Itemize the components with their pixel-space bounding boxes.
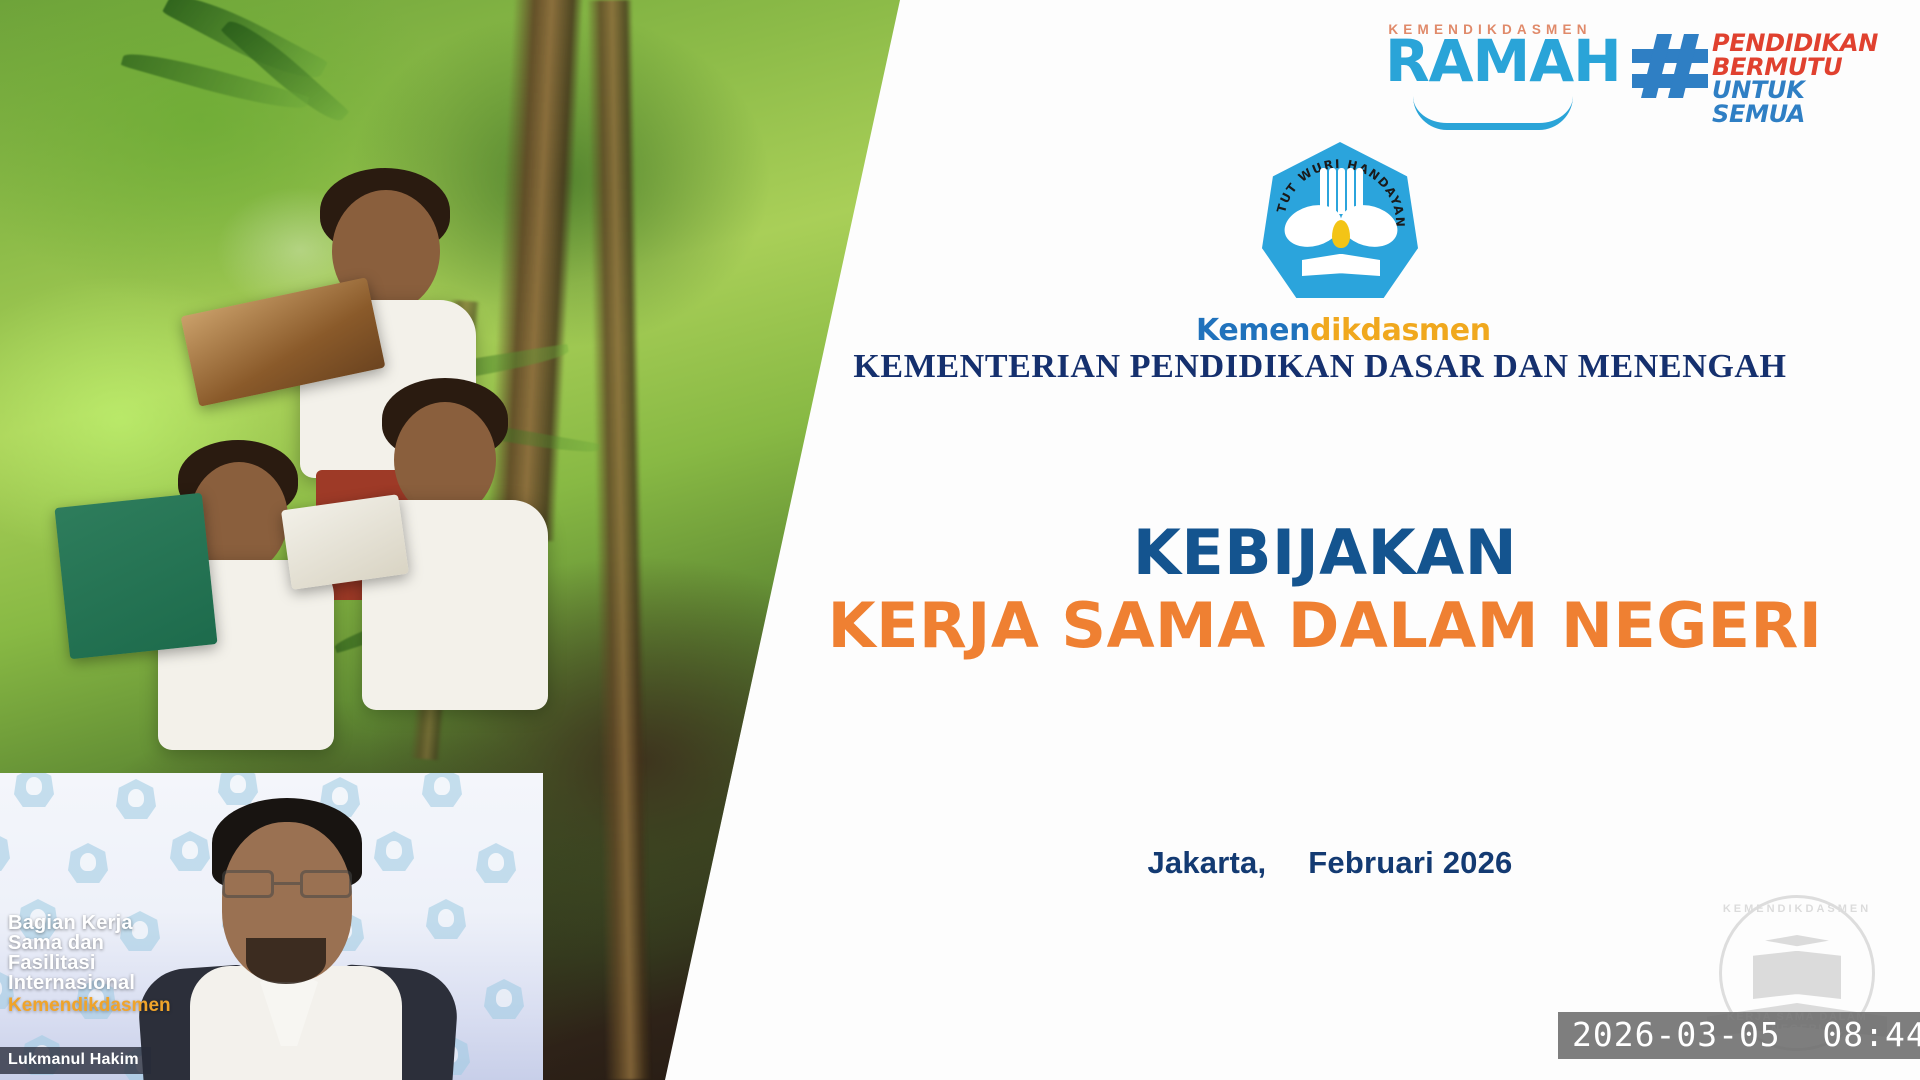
pendidikan-bermutu-logo: PENDIDIKAN BERMUTU UNTUK SEMUA (1632, 20, 1892, 110)
unit-line-3: Fasilitasi (8, 953, 348, 973)
unit-line-4: Internasional (8, 973, 348, 993)
ramah-logo-wordmark: RAMAH (1385, 37, 1595, 86)
kemendikdasmen-wordmark: Kemendikdasmen (1196, 313, 1486, 348)
picture-book (54, 493, 217, 660)
title-line-kebijakan: KEBIJAKAN (760, 520, 1890, 585)
date-label: Februari 2026 (1308, 845, 1512, 880)
wordmark-part-2: dikdasmen (1310, 313, 1491, 348)
hashtag-logo-text: PENDIDIKAN BERMUTU UNTUK SEMUA (1712, 32, 1892, 126)
watermark-arc-text: KEMENDIKDASMEN (1719, 903, 1875, 915)
ministry-title: KEMENTERIAN PENDIDIKAN DASAR DAN MENENGA… (740, 348, 1900, 386)
slide-main-title: KEBIJAKAN KERJA SAMA DALAM NEGERI (760, 520, 1890, 658)
participant-name-label: Lukmanul Hakim (0, 1047, 151, 1074)
screen-share-view: KEMENDIKDASMEN RAMAH PENDIDIKAN BERMUTU … (0, 0, 1920, 1080)
emblem-flame (1332, 220, 1350, 248)
bamboo-stalk (485, 0, 584, 541)
place-and-date: Jakarta,Februari 2026 (900, 845, 1760, 881)
ramah-logo: KEMENDIKDASMEN RAMAH (1385, 22, 1595, 110)
webcam-video-tile[interactable]: Bagian Kerja Sama dan Fasilitasi Interna… (0, 773, 543, 1080)
hashtag-icon (1632, 34, 1708, 98)
tut-wuri-handayani-emblem-icon: TUT WURI HANDAYANI (1262, 142, 1418, 298)
bamboo-stalk (587, 0, 652, 1080)
hashtag-line-1: PENDIDIKAN (1712, 32, 1892, 56)
bamboo-leaf (221, 11, 350, 131)
ramah-swoosh-icon (1413, 96, 1573, 130)
open-book (281, 494, 409, 590)
recording-timestamp: 2026-03-05 08:44:16 (1558, 1012, 1920, 1059)
unit-name-overlay: Bagian Kerja Sama dan Fasilitasi Interna… (8, 913, 348, 1016)
hashtag-line-3: UNTUK SEMUA (1712, 79, 1892, 126)
unit-line-1: Bagian Kerja (8, 913, 348, 933)
unit-organization: Kemendikdasmen (8, 996, 348, 1016)
place-label: Jakarta, (1147, 845, 1266, 880)
unit-line-2: Sama dan (8, 933, 348, 953)
title-line-kerja-sama: KERJA SAMA DALAM NEGERI (760, 593, 1890, 658)
open-book-icon (1753, 951, 1841, 999)
wordmark-part-1: Kemen (1196, 313, 1310, 348)
glasses-icon (220, 870, 354, 898)
